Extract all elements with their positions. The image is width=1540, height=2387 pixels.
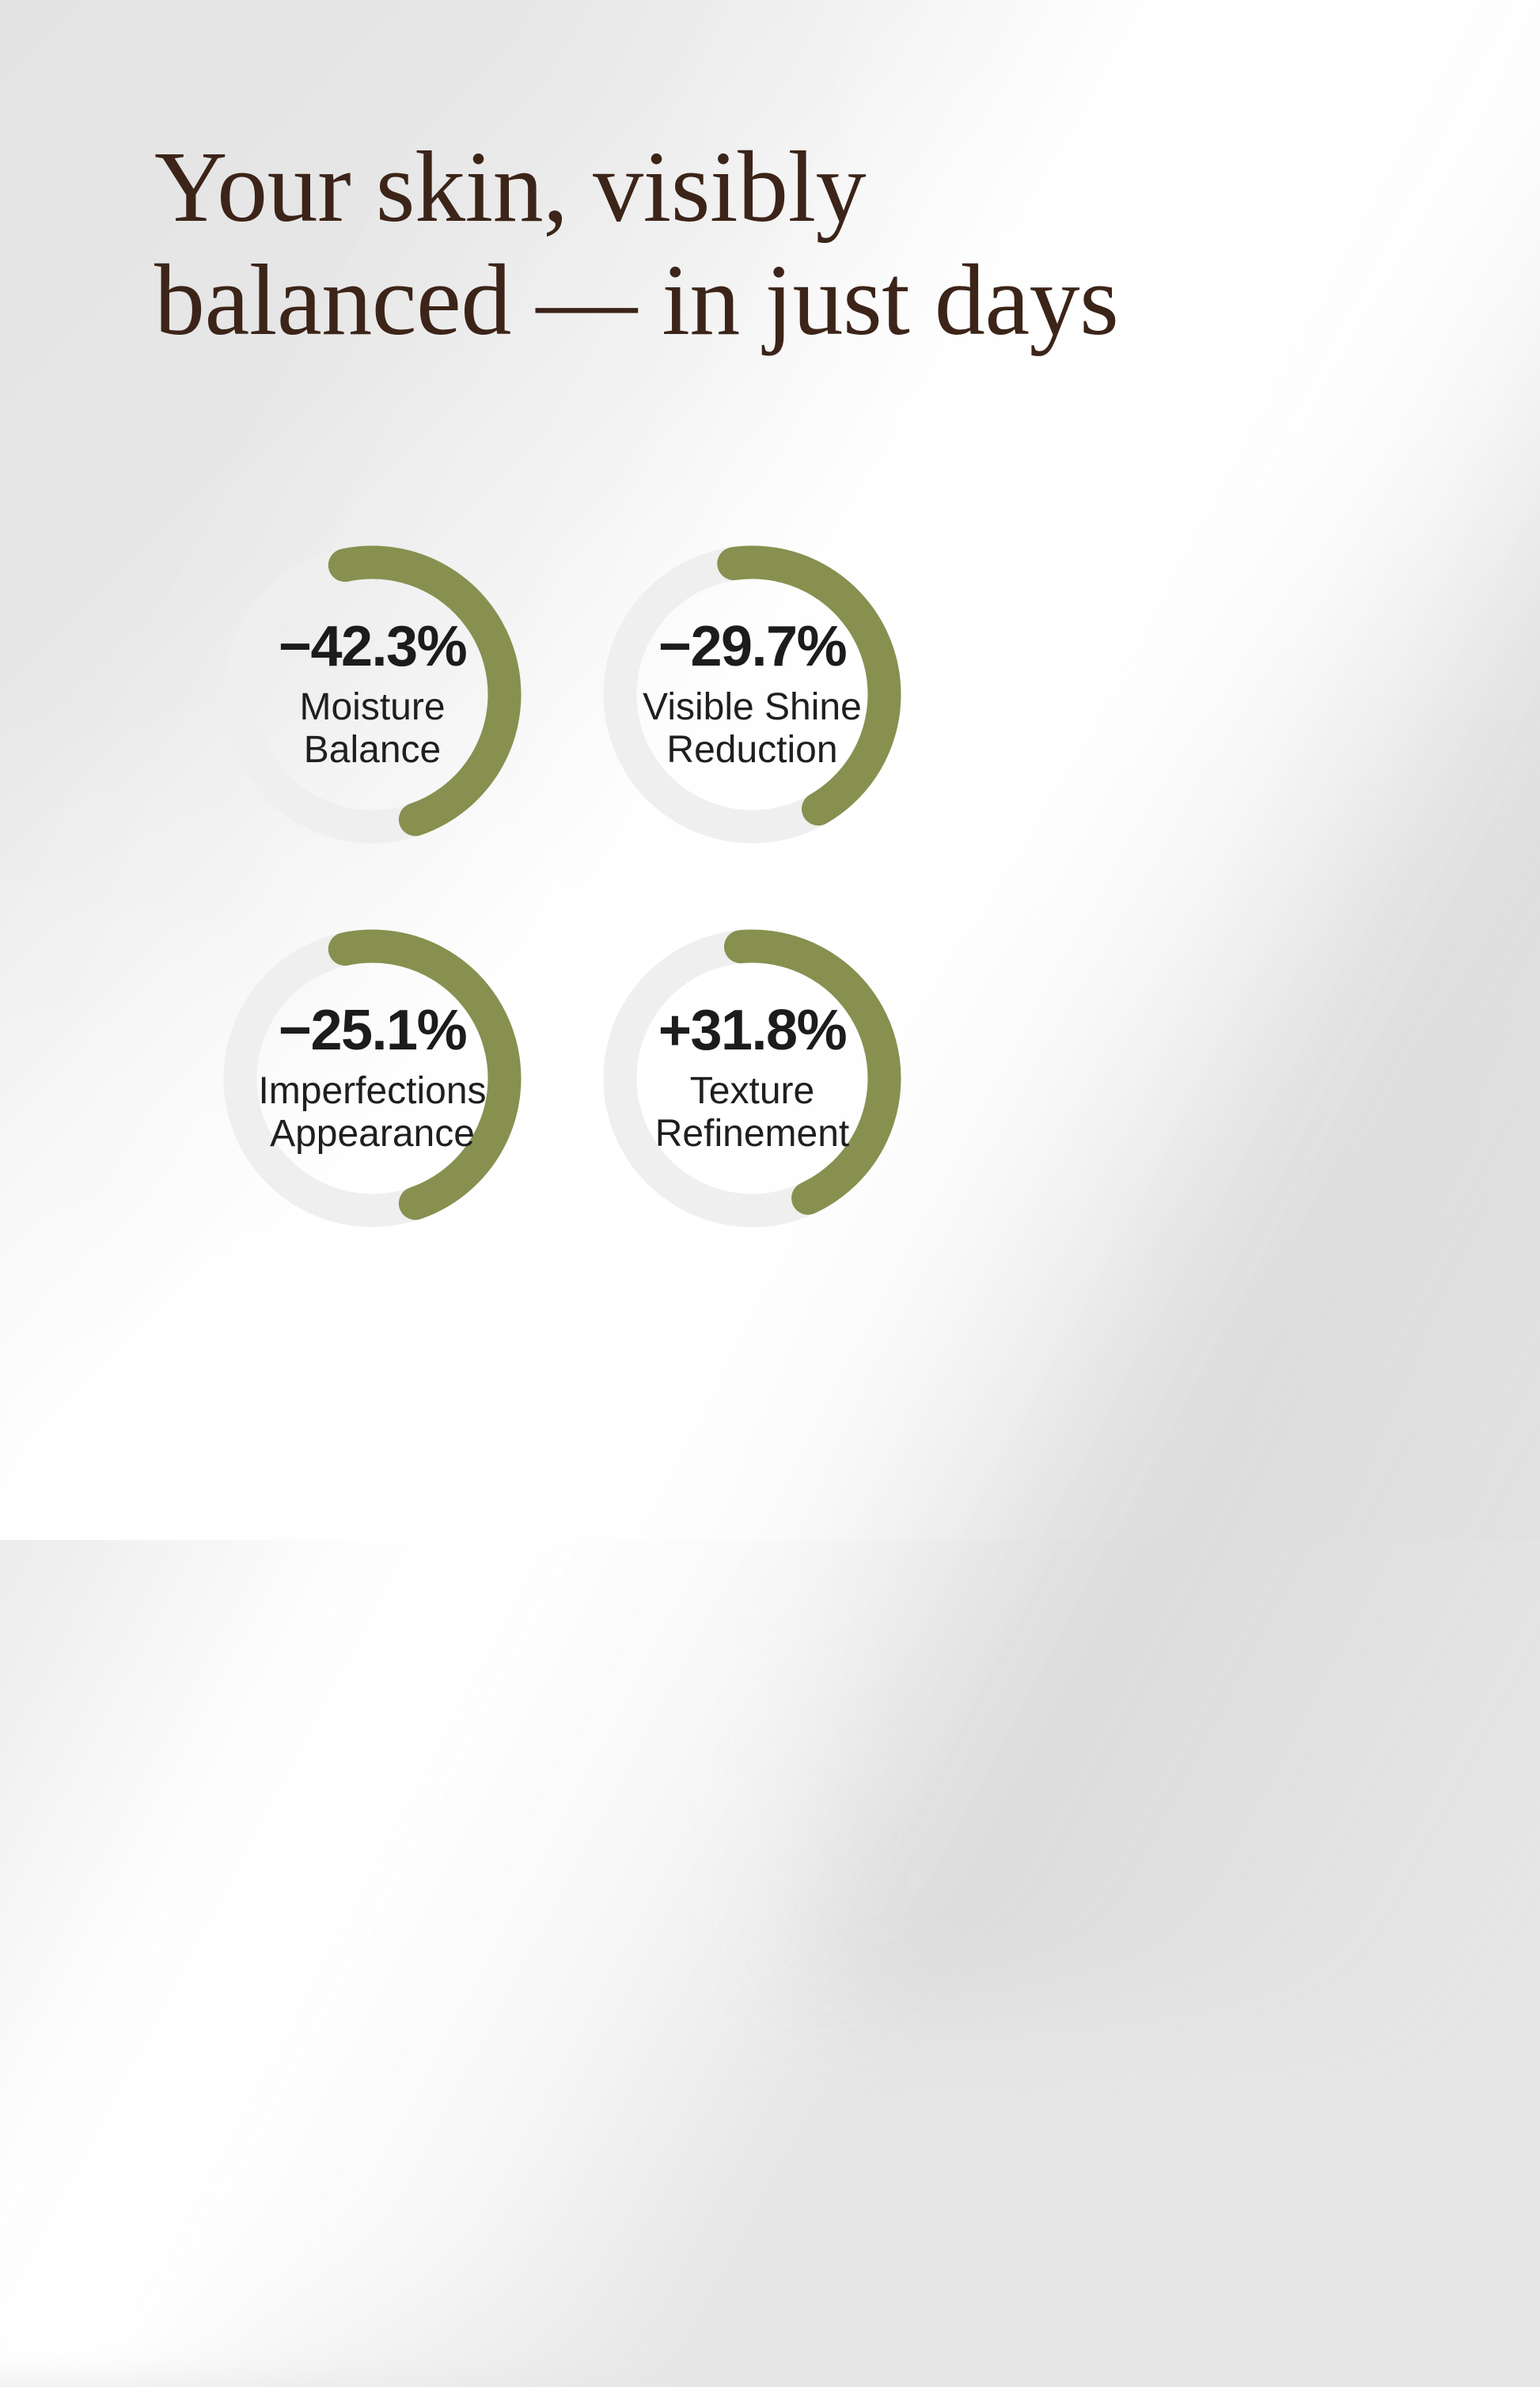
metric-label: Imperfections Appearance [258, 1070, 486, 1156]
metric-label: Visible Shine Reduction [643, 686, 862, 772]
metric-center-content: −42.3% Moisture Balance [233, 556, 511, 833]
metric-center-content: −25.1% Imperfections Appearance [233, 939, 511, 1217]
metric-value: −42.3% [279, 618, 466, 675]
metric-label: Moisture Balance [299, 686, 445, 772]
metric-center-content: −29.7% Visible Shine Reduction [613, 556, 891, 833]
promo-card: Your skin, visibly balanced — in just da… [0, 0, 1540, 1540]
page-title: Your skin, visibly balanced — in just da… [154, 131, 1436, 358]
metric-value: −25.1% [279, 1002, 466, 1059]
metric-gauge-texture-refinement: +31.8% Texture Refinement [572, 898, 932, 1258]
metric-gauge-visible-shine-reduction: −29.7% Visible Shine Reduction [572, 514, 932, 875]
metric-gauge-moisture-balance: −42.3% Moisture Balance [192, 514, 552, 875]
metric-center-content: +31.8% Texture Refinement [613, 939, 891, 1217]
metrics-row-2: −25.1% Imperfections Appearance +31.8% T… [192, 898, 1126, 1258]
metrics-row-1: −42.3% Moisture Balance −29.7% Visible S… [192, 514, 1126, 875]
metric-value: +31.8% [658, 1002, 846, 1059]
metrics-grid: −42.3% Moisture Balance −29.7% Visible S… [192, 514, 1126, 1258]
metric-value: −29.7% [658, 618, 846, 675]
metric-label: Texture Refinement [655, 1070, 849, 1156]
metric-gauge-imperfections-appearance: −25.1% Imperfections Appearance [192, 898, 552, 1258]
